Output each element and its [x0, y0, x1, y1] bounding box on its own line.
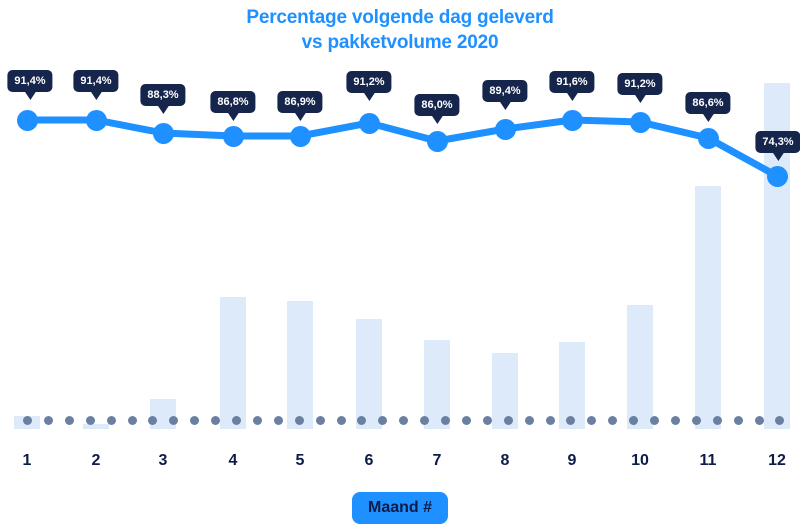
- x-tick-10: 10: [631, 452, 649, 470]
- x-axis-tick-labels: 123456789101112: [0, 452, 800, 480]
- data-label-month-11: 86,6%: [685, 92, 730, 114]
- line-marker-month-1[interactable]: [17, 110, 38, 131]
- data-label-month-6: 91,2%: [346, 71, 391, 93]
- line-marker-month-5[interactable]: [290, 126, 311, 147]
- x-tick-1: 1: [23, 452, 32, 470]
- data-label-month-3: 88,3%: [140, 84, 185, 106]
- line-marker-month-10[interactable]: [630, 112, 651, 133]
- line-marker-month-7[interactable]: [427, 131, 448, 152]
- line-series: [0, 0, 800, 440]
- data-label-month-8: 89,4%: [482, 80, 527, 102]
- data-label-month-1: 91,4%: [7, 70, 52, 92]
- x-tick-4: 4: [229, 452, 238, 470]
- x-tick-7: 7: [433, 452, 442, 470]
- line-marker-month-12[interactable]: [767, 166, 788, 187]
- line-marker-month-8[interactable]: [495, 119, 516, 140]
- data-label-month-5: 86,9%: [277, 91, 322, 113]
- line-marker-month-3[interactable]: [153, 123, 174, 144]
- x-tick-11: 11: [700, 452, 717, 470]
- x-axis-title-pill[interactable]: Maand #: [352, 492, 448, 524]
- x-tick-2: 2: [92, 452, 101, 470]
- data-label-month-7: 86,0%: [414, 94, 459, 116]
- x-tick-9: 9: [568, 452, 577, 470]
- x-tick-3: 3: [159, 452, 168, 470]
- line-marker-month-4[interactable]: [223, 126, 244, 147]
- data-label-month-2: 91,4%: [73, 70, 118, 92]
- x-tick-8: 8: [501, 452, 510, 470]
- line-marker-month-2[interactable]: [86, 110, 107, 131]
- data-label-month-4: 86,8%: [210, 91, 255, 113]
- line-marker-month-11[interactable]: [698, 128, 719, 149]
- line-marker-month-6[interactable]: [359, 113, 380, 134]
- chart-root: Percentage volgende dag geleverd vs pakk…: [0, 0, 800, 532]
- plot-area: 91,4%91,4%88,3%86,8%86,9%91,2%86,0%89,4%…: [0, 0, 800, 440]
- data-label-month-12: 74,3%: [755, 131, 800, 153]
- line-marker-month-9[interactable]: [562, 110, 583, 131]
- data-label-month-10: 91,2%: [617, 73, 662, 95]
- x-tick-5: 5: [296, 452, 305, 470]
- data-label-month-9: 91,6%: [549, 71, 594, 93]
- x-tick-6: 6: [365, 452, 374, 470]
- x-tick-12: 12: [768, 452, 786, 470]
